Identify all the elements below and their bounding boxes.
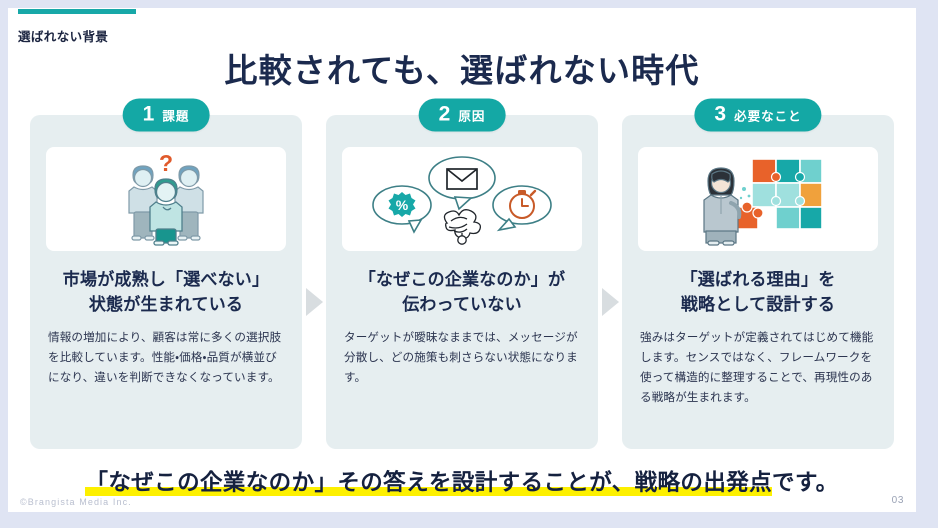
card-3: 3 必要なこと	[622, 115, 894, 449]
card-heading-line-2: 戦略として設計する	[638, 293, 878, 318]
card-body-1: 情報の増加により、顧客は常に多くの選択肢を比較しています。性能・価格・品質が横並…	[46, 328, 286, 388]
page-title: 比較されても、選ばれない時代	[8, 44, 916, 92]
badge-3: 3 必要なこと	[694, 99, 821, 132]
woman-puzzle-icon	[678, 151, 838, 247]
arrow-connector-1	[303, 115, 325, 449]
speech-bubbles-confusion-icon: %	[369, 151, 555, 247]
columns-container: 1 課題 ?	[30, 115, 894, 455]
illustration-panel-1: ?	[46, 147, 286, 251]
arrow-connector-2	[599, 115, 621, 449]
card-1: 1 課題 ?	[30, 115, 302, 449]
sparkle-icon	[740, 187, 751, 199]
svg-text:%: %	[396, 197, 409, 213]
card-2: 2 原因	[326, 115, 598, 449]
badge-number: 1	[143, 104, 155, 125]
speech-bubble-envelope	[429, 157, 495, 209]
badge-2: 2 原因	[419, 99, 506, 132]
card-heading-line-1: 市場が成熟し「選べない」	[46, 268, 286, 293]
speech-bubble-percent: %	[373, 186, 431, 232]
card-heading-2: 「なぜこの企業なのか」が 伝わっていない	[342, 268, 582, 317]
conclusion-tail-text: です。	[772, 470, 838, 495]
triangle-right-icon	[306, 288, 323, 316]
card-heading-3: 「選ばれる理由」を 戦略として設計する	[638, 268, 878, 317]
svg-text:?: ?	[159, 151, 173, 176]
badge-label: 課題	[162, 106, 189, 125]
section-eyebrow: 選ばれない背景	[18, 26, 108, 45]
badge-label: 原因	[458, 106, 485, 125]
triangle-right-icon	[602, 288, 619, 316]
card-heading-line-2: 状態が生まれている	[46, 293, 286, 318]
illustration-panel-2: %	[342, 147, 582, 251]
badge-1: 1 課題	[123, 99, 210, 132]
illustration-panel-3	[638, 147, 878, 251]
card-heading-1: 市場が成熟し「選べない」 状態が生まれている	[46, 268, 286, 317]
speech-bubble-stopwatch	[493, 186, 551, 230]
card-heading-line-1: 「選ばれる理由」を	[638, 268, 878, 293]
slide-canvas: 選ばれない背景 比較されても、選ばれない時代 1 課題 ?	[8, 8, 916, 512]
card-heading-line-2: 伝わっていない	[342, 293, 582, 318]
card-body-2: ターゲットが曖昧なままでは、メッセージが分散し、どの施策も刺さらない状態になりま…	[342, 328, 582, 388]
badge-label: 必要なこと	[734, 106, 802, 125]
accent-bar	[18, 9, 136, 14]
copyright-notice: ©Brangista Media Inc.	[20, 497, 132, 507]
card-body-3: 強みはターゲットが定義されてはじめて機能します。センスではなく、フレームワークを…	[638, 328, 878, 408]
badge-number: 3	[714, 104, 726, 125]
badge-number: 2	[439, 104, 451, 125]
page-number: 03	[892, 495, 904, 506]
column-1: 1 課題 ?	[30, 115, 302, 449]
conclusion-statement: 「なぜこの企業なのか」その答えを設計することが、戦略の出発点です。	[8, 465, 916, 497]
tangled-scribble-icon	[444, 210, 480, 245]
conclusion-highlighted-text: 「なぜこの企業なのか」その答えを設計することが、戦略の出発点	[85, 470, 772, 496]
column-3: 3 必要なこと	[622, 115, 894, 449]
three-people-question-icon: ?	[81, 151, 251, 247]
card-heading-line-1: 「なぜこの企業なのか」が	[342, 268, 582, 293]
column-2: 2 原因	[326, 115, 598, 449]
